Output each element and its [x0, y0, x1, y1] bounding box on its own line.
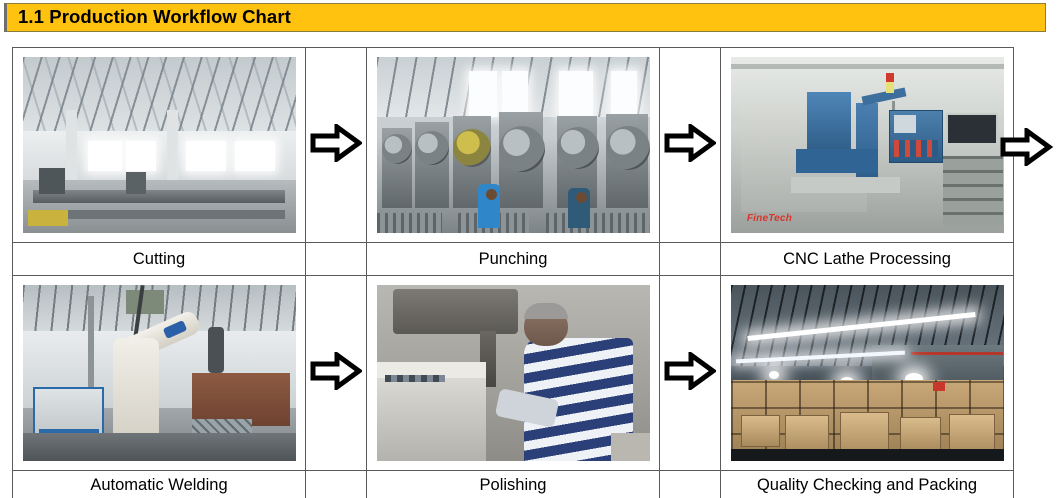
blank-cell	[306, 243, 367, 276]
right-block-arrow-icon	[664, 352, 716, 390]
blank-cell	[660, 471, 721, 498]
table-row	[13, 276, 1014, 471]
photo-cell-punching	[367, 48, 660, 243]
section-header-banner: 1.1 Production Workflow Chart	[4, 3, 1046, 32]
production-workflow-page: 1.1 Production Workflow Chart	[0, 0, 1060, 498]
right-block-arrow-icon	[310, 352, 362, 390]
table-row: FineTech	[13, 48, 1014, 243]
blank-cell	[660, 243, 721, 276]
photo-cell-polishing	[367, 276, 660, 471]
step-label-punching: Punching	[367, 247, 659, 270]
welding-robot-photo	[23, 285, 296, 461]
table-row: Cutting Punching CNC Lathe Processing	[13, 243, 1014, 276]
arrow-cell-polishing-to-quality	[660, 276, 721, 471]
machine-brand-logo: FineTech	[747, 214, 792, 224]
caption-cell-quality-checking: Quality Checking and Packing	[721, 471, 1014, 498]
workshop-cutting-line-photo	[23, 57, 296, 233]
overflow-right-block-arrow-icon	[1000, 128, 1058, 166]
step-label-automatic-welding: Automatic Welding	[13, 471, 305, 496]
workflow-table: FineTech Cutting Punching CNC Lathe Proc…	[12, 47, 1014, 498]
worker-polishing-photo	[377, 285, 650, 461]
photo-cell-quality-checking	[721, 276, 1014, 471]
arrow-cell-punching-to-cnc	[660, 48, 721, 243]
photo-cell-cutting	[13, 48, 306, 243]
caption-cell-automatic-welding: Automatic Welding	[13, 471, 306, 498]
cnc-lathe-machine-photo: FineTech	[731, 57, 1004, 233]
caption-cell-cnc-lathe: CNC Lathe Processing	[721, 243, 1014, 276]
blank-cell	[306, 471, 367, 498]
arrow-cell-welding-to-polishing	[306, 276, 367, 471]
step-label-cutting: Cutting	[13, 247, 305, 270]
caption-cell-cutting: Cutting	[13, 243, 306, 276]
caption-cell-punching: Punching	[367, 243, 660, 276]
table-row: Automatic Welding Polishing Quality Chec…	[13, 471, 1014, 498]
warehouse-packing-photo	[731, 285, 1004, 461]
right-block-arrow-icon	[310, 124, 362, 162]
punch-press-machines-photo	[377, 57, 650, 233]
photo-cell-automatic-welding	[13, 276, 306, 471]
step-label-quality-checking-and-packing: Quality Checking and Packing	[721, 471, 1013, 496]
photo-cell-cnc-lathe: FineTech	[721, 48, 1014, 243]
step-label-cnc-lathe-processing: CNC Lathe Processing	[721, 247, 1013, 270]
page-title: 1.1 Production Workflow Chart	[7, 8, 291, 27]
step-label-polishing: Polishing	[367, 471, 659, 496]
arrow-cell-cutting-to-punching	[306, 48, 367, 243]
right-block-arrow-icon	[664, 124, 716, 162]
caption-cell-polishing: Polishing	[367, 471, 660, 498]
